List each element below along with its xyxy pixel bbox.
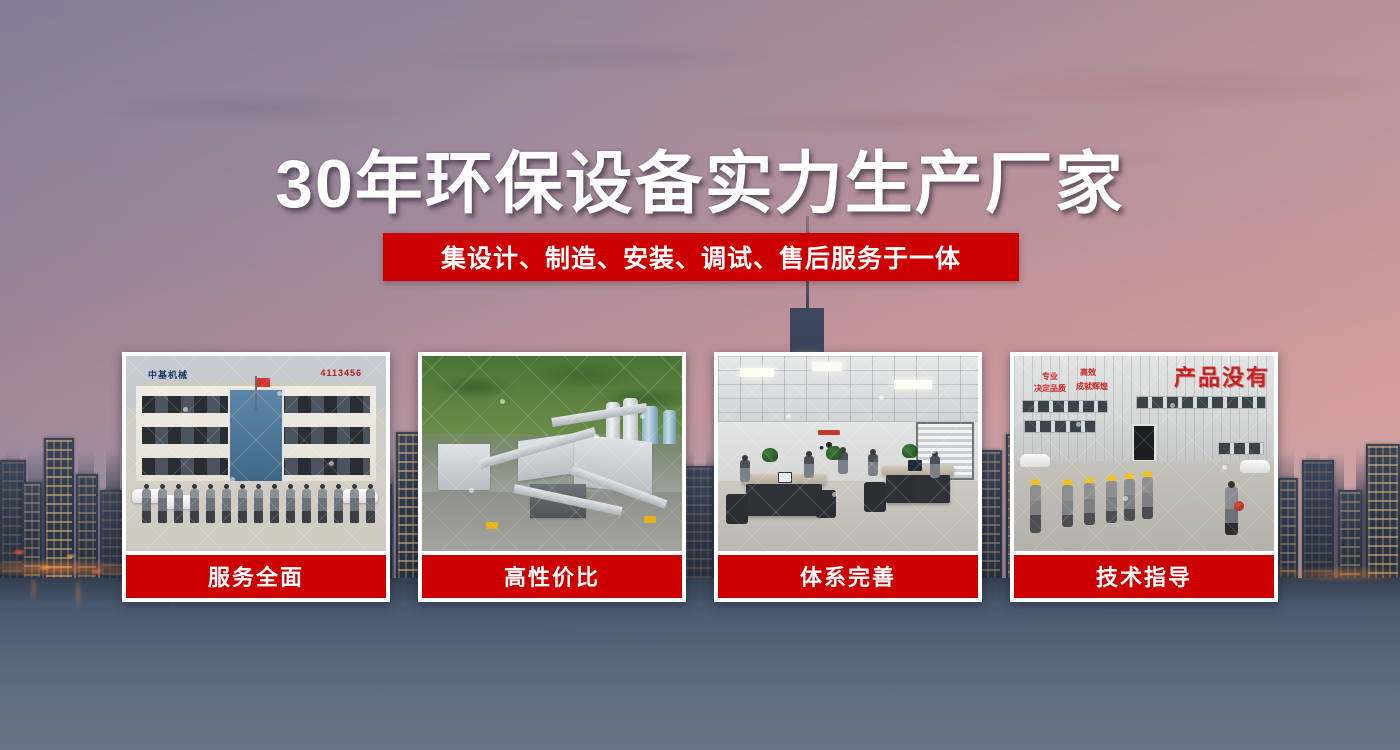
- wall-slogan-left-3: 决定品质: [1034, 384, 1066, 394]
- hero-banner: 30年环保设备实力生产厂家 集设计、制造、安装、调试、售后服务于一体 中基机械 …: [0, 0, 1400, 750]
- feature-card[interactable]: 高性价比: [418, 352, 686, 602]
- potted-plant: [762, 448, 778, 462]
- office-interior-photo: [718, 356, 978, 551]
- worker-in-helmet: [1084, 483, 1095, 525]
- factory-window-row: [1136, 396, 1266, 409]
- page-title: 30年环保设备实力生产厂家: [0, 128, 1400, 227]
- card-label: 高性价比: [422, 555, 682, 598]
- feature-card[interactable]: 产品没有 专业 高效 决定品质 成就辉煌: [1010, 352, 1278, 602]
- storage-silo: [663, 410, 676, 444]
- ceiling-light: [740, 368, 774, 377]
- ceiling-grid: [718, 356, 978, 422]
- feature-card[interactable]: 中基机械 4113456: [122, 352, 390, 602]
- factory-workers-photo: 产品没有 专业 高效 决定品质 成就辉煌: [1014, 356, 1274, 551]
- card-label: 体系完善: [718, 555, 978, 598]
- feature-card-row: 中基机械 4113456: [122, 352, 1278, 602]
- subtitle-banner: 集设计、制造、安装、调试、售后服务于一体: [383, 233, 1019, 281]
- ceiling-light: [894, 380, 932, 389]
- feature-card[interactable]: 体系完善: [714, 352, 982, 602]
- wall-slogan-left-4: 成就辉煌: [1076, 382, 1108, 392]
- card-label: 服务全面: [126, 555, 386, 598]
- wall-slogan-main: 产品没有: [1174, 360, 1270, 392]
- wall-slogan-left-2: 高效: [1080, 368, 1096, 378]
- office-worker: [868, 454, 878, 476]
- supervisor: [1225, 487, 1238, 535]
- parked-car: [1240, 460, 1270, 473]
- monitor: [908, 460, 922, 471]
- worker-in-helmet: [1124, 479, 1135, 521]
- office-worker: [740, 460, 750, 482]
- flag-pole: [255, 376, 257, 410]
- wall-slogan-left-1: 专业: [1042, 372, 1058, 382]
- desk: [746, 484, 822, 516]
- chair: [816, 490, 836, 518]
- office-worker: [804, 456, 814, 478]
- parked-car: [1020, 454, 1050, 467]
- potted-plant: [826, 446, 842, 460]
- ceiling-light: [812, 362, 842, 371]
- laptop-screen: [778, 472, 792, 483]
- staff-lineup: [142, 485, 370, 523]
- card-label: 技术指导: [1014, 555, 1274, 598]
- worker-in-helmet: [1142, 477, 1153, 519]
- aerial-plant-photo: [422, 356, 682, 551]
- factory-window-row: [1022, 400, 1108, 413]
- office-worker: [930, 456, 940, 478]
- worker-in-helmet: [1030, 485, 1041, 533]
- worker-in-helmet: [1106, 481, 1117, 523]
- excavator: [644, 516, 656, 523]
- chair: [864, 482, 886, 512]
- company-building-staff-photo: 中基机械 4113456: [126, 356, 386, 551]
- factory-window-row: [1218, 442, 1264, 455]
- company-phone-text: 4113456: [320, 368, 362, 378]
- chair: [896, 476, 916, 502]
- factory-window-row: [1024, 420, 1096, 433]
- excavator: [486, 522, 498, 529]
- potted-plant: [902, 444, 918, 458]
- chair: [726, 494, 748, 524]
- factory-door: [1132, 424, 1156, 462]
- worker-in-helmet: [1062, 485, 1073, 527]
- company-sign-text: 中基机械: [148, 368, 188, 381]
- red-helmet-icon: [1234, 501, 1244, 511]
- subtitle-text: 集设计、制造、安装、调试、售后服务于一体: [441, 239, 961, 275]
